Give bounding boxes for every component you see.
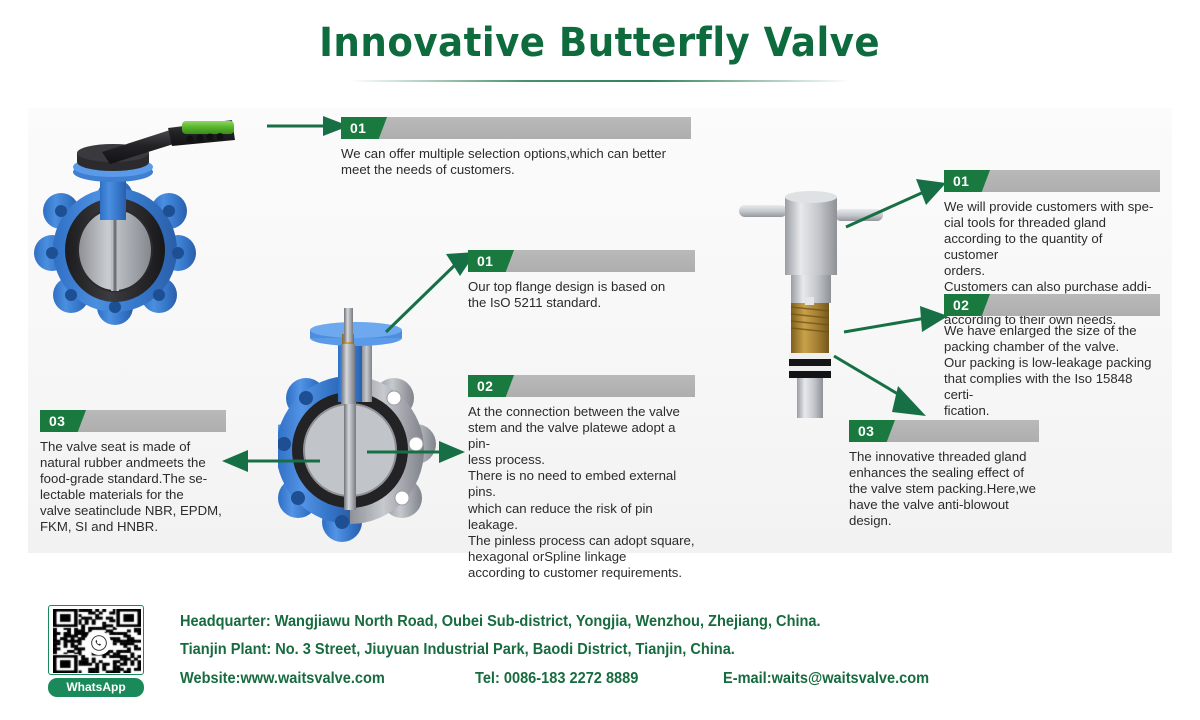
callout-block-3: 02 At the connection between the valve s… <box>468 375 695 581</box>
qr-code[interactable] <box>48 605 144 675</box>
badge-row: 03 <box>849 420 1039 442</box>
whatsapp-qr-block[interactable]: WhatsApp <box>48 605 148 697</box>
title-underline <box>350 80 850 82</box>
cutaway-butterfly-valve-stem <box>278 300 478 550</box>
callout-text: We have enlarged the size of the packing… <box>944 323 1160 420</box>
callout-text: At the connection between the valve stem… <box>468 404 695 581</box>
callout-block-4: 03 The valve seat is made of natural rub… <box>40 410 226 536</box>
badge-row: 01 <box>944 170 1160 192</box>
badge-row: 02 <box>468 375 695 397</box>
footer-headquarter: Headquarter: Wangjiawu North Road, Oubei… <box>180 613 821 631</box>
badge-bar <box>341 117 691 139</box>
title-block: Innovative Butterfly Valve <box>0 22 1200 64</box>
callout-text: The innovative threaded gland enhances t… <box>849 449 1039 529</box>
callout-text: Our top flange design is based on the Is… <box>468 279 695 311</box>
footer-tel[interactable]: Tel: 0086-183 2272 8889 <box>475 670 638 688</box>
whatsapp-icon <box>87 631 111 655</box>
threaded-gland-tool <box>735 185 895 420</box>
callout-block-6: 02 We have enlarged the size of the pack… <box>944 294 1160 420</box>
footer-email[interactable]: E-mail:waits@waitsvalve.com <box>723 670 929 688</box>
footer-website[interactable]: Website:www.waitsvalve.com <box>180 670 385 688</box>
footer: WhatsApp Headquarter: Wangjiawu North Ro… <box>0 585 1200 720</box>
footer-plant: Tianjin Plant: No. 3 Street, Jiuyuan Ind… <box>180 641 735 659</box>
badge-row: 02 <box>944 294 1160 316</box>
callout-block-2: 01 Our top flange design is based on the… <box>468 250 695 311</box>
callout-text: The valve seat is made of natural rubber… <box>40 439 226 536</box>
callout-text: We can offer multiple selection options,… <box>341 146 691 178</box>
badge-row: 01 <box>468 250 695 272</box>
lever-handle-butterfly-valve <box>30 110 320 330</box>
whatsapp-label: WhatsApp <box>48 678 144 697</box>
page-title: Innovative Butterfly Valve <box>320 22 881 64</box>
badge-row: 01 <box>341 117 691 139</box>
callout-block-1: 01 We can offer multiple selection optio… <box>341 117 691 178</box>
callout-block-7: 03 The innovative threaded gland enhance… <box>849 420 1039 529</box>
badge-row: 03 <box>40 410 226 432</box>
